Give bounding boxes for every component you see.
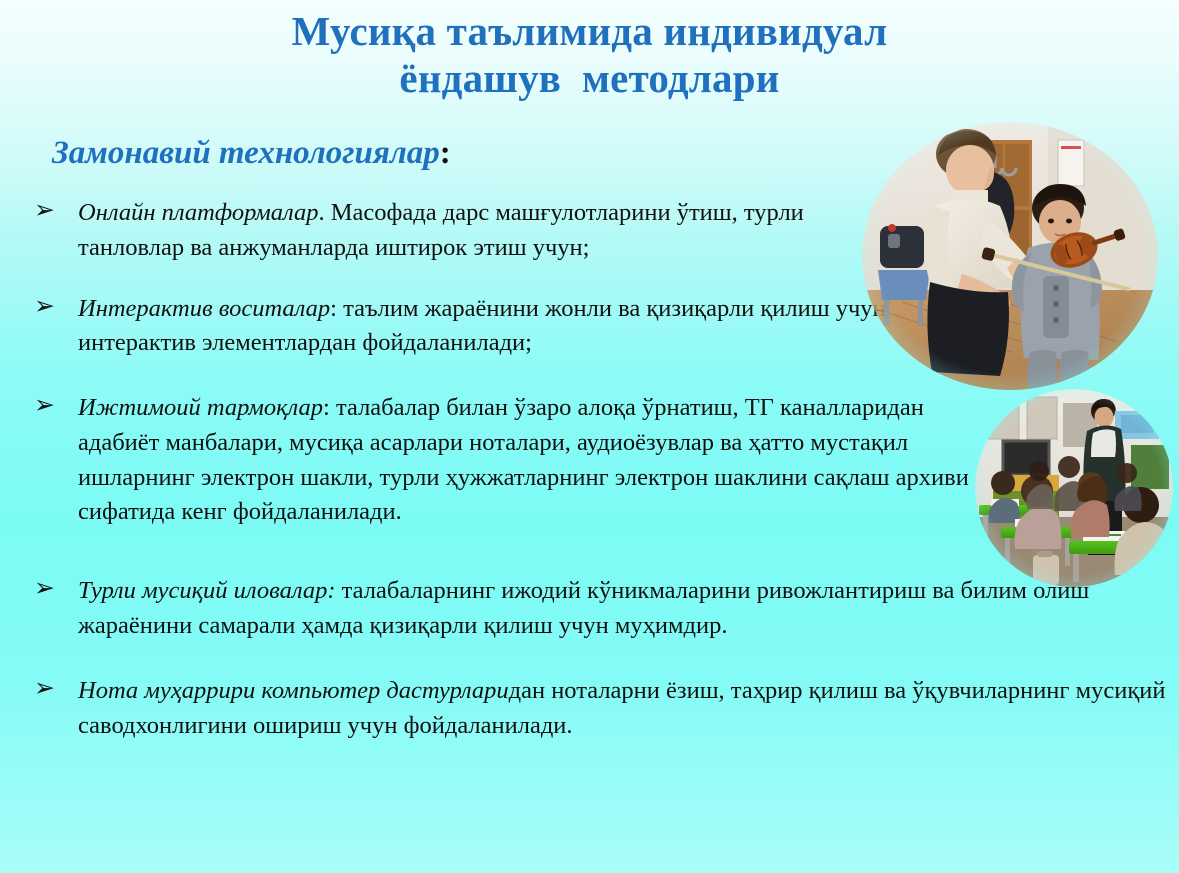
list-item-text: Нота муҳаррири компьютер дастурларидан н… <box>78 677 1165 739</box>
list-item: ➢Ижтимоий тармоқлар: талабалар билан ўза… <box>30 391 998 530</box>
list-item-lead: Онлайн платформалар <box>78 199 319 226</box>
page-title: Мусиқа таълимида индивидуал ёндашув мето… <box>0 10 1179 101</box>
list-item: ➢Турли мусиқий иловалар: талабаларнинг и… <box>30 574 1179 644</box>
list-item-lead: Ижтимоий тармоқлар <box>78 394 323 421</box>
section-subtitle-text: Замонавий технологиялар <box>52 135 440 171</box>
section-subtitle: Замонавий технологиялар: <box>52 135 451 172</box>
list-item: ➢Онлайн платформалар. Масофада дарс машғ… <box>30 196 868 266</box>
list-item: ➢Нота муҳаррири компьютер дастурларидан … <box>30 674 1179 744</box>
arrow-bullet-icon: ➢ <box>34 575 64 603</box>
list-item-text: Ижтимоий тармоқлар: талабалар билан ўзар… <box>78 394 969 525</box>
classroom-photo <box>975 389 1173 587</box>
violin-lesson-photo <box>862 122 1158 390</box>
arrow-bullet-icon: ➢ <box>34 293 64 321</box>
arrow-bullet-icon: ➢ <box>34 197 64 225</box>
classroom-illustration <box>975 389 1173 587</box>
title-line-1: Мусиқа таълимида индивидуал <box>0 10 1179 53</box>
list-item-lead: Нота муҳаррири компьютер дастурлари <box>78 677 509 704</box>
list-item-lead: Турли мусиқий иловалар: <box>78 577 336 604</box>
list-item-lead: Интерактив воситалар <box>78 295 330 322</box>
list-item-text: Онлайн платформалар. Масофада дарс машғу… <box>78 199 804 261</box>
section-subtitle-punctuation: : <box>440 135 451 171</box>
list-item: ➢Интерактив воситалар: таълим жараёнини … <box>30 292 998 362</box>
arrow-bullet-icon: ➢ <box>34 675 64 703</box>
list-item-text: Интерактив воситалар: таълим жараёнини ж… <box>78 295 886 357</box>
presentation-slide: Мусиқа таълимида индивидуал ёндашув мето… <box>0 0 1179 873</box>
list-item-text: Турли мусиқий иловалар: талабаларнинг иж… <box>78 577 1089 639</box>
violin-lesson-illustration <box>862 122 1158 390</box>
arrow-bullet-icon: ➢ <box>34 392 64 420</box>
title-line-2: ёндашув методлари <box>0 57 1179 100</box>
